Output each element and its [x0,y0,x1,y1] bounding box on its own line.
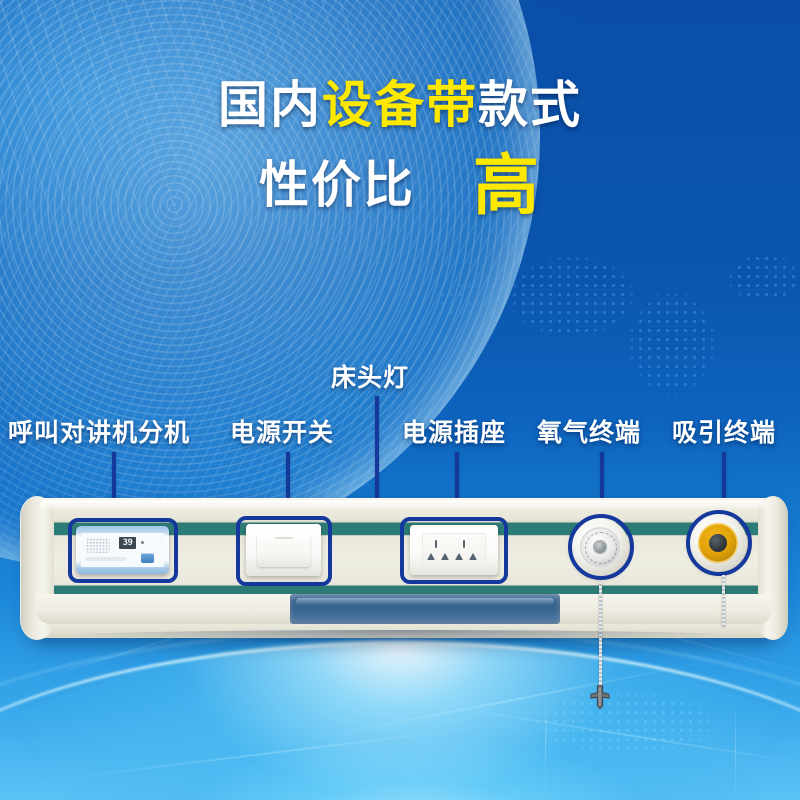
headline-line-2: 性价比高 [0,152,800,218]
callout-label-power-socket: 电源插座 [402,413,506,449]
bed-lamp-lens[interactable] [290,594,560,624]
headline-line2-highlight: 高 [473,148,541,222]
callout-label-intercom: 呼叫对讲机分机 [8,413,190,449]
headline-block: 国内设备带款式 性价比高 [0,80,800,218]
callout-label-suction: 吸引终端 [672,413,776,449]
highlight-box-intercom [68,518,178,583]
grid-line [545,690,546,800]
headline-line2-part1: 性价比 [259,157,415,213]
callout-label-bed-lamp: 床头灯 [331,358,409,394]
headline-line1-highlight: 设备带 [322,77,478,133]
rail-drop-shadow [42,630,762,644]
callout-label-oxygen: 氧气终端 [537,413,641,449]
highlight-box-power-socket [400,517,508,584]
hose-nozzle-icon [587,683,613,709]
world-dot-map-icon [420,200,800,430]
headline-line-1: 国内设备带款式 [0,80,800,130]
headline-line1-part1: 国内 [218,77,322,133]
promo-banner: 国内设备带款式 性价比高 呼叫对讲机分机 电源开关 床头灯 电源插座 氧气终端 … [0,0,800,800]
headline-line1-part3: 款式 [478,77,582,133]
highlight-box-power-switch [236,516,332,586]
rail-top-highlight [40,500,766,511]
callout-label-power-switch: 电源开关 [230,413,334,449]
suction-hose-cord [722,575,725,627]
medical-supply-rail: 39 [28,498,780,638]
highlight-circle-suction [686,510,752,576]
highlight-circle-oxygen [568,514,634,580]
grid-line [735,700,736,800]
